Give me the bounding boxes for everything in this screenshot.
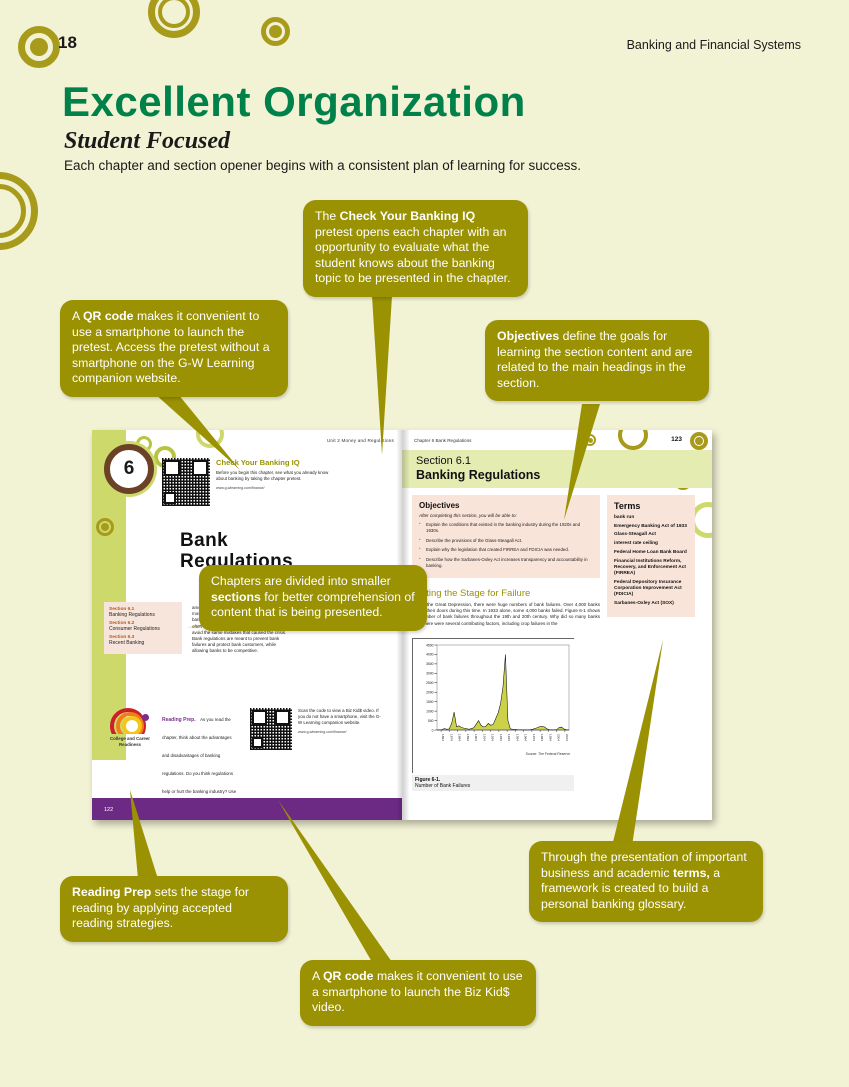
page-number: 18 bbox=[58, 33, 77, 53]
callout-objectives-bold: Objectives bbox=[497, 329, 559, 343]
callout-terms-bold: terms, bbox=[673, 866, 710, 880]
svg-text:1964: 1964 bbox=[524, 734, 528, 741]
callout-terms: Through the presentation of important bu… bbox=[529, 841, 763, 922]
svg-text:4500: 4500 bbox=[426, 643, 434, 647]
svg-text:1000: 1000 bbox=[426, 709, 434, 713]
objectives-title: Objectives bbox=[419, 501, 593, 510]
svg-text:0: 0 bbox=[432, 728, 434, 732]
term-item: Federal Home Loan Bank Board bbox=[614, 550, 688, 556]
objective-item: Explain why the legislation that created… bbox=[419, 547, 593, 553]
section-entry-name: Banking Regulations bbox=[109, 612, 177, 618]
left-page-footer-bar bbox=[92, 798, 402, 820]
right-page-running-head: Chapter 6 Bank Regulations bbox=[414, 438, 471, 443]
term-item: interest rate ceiling bbox=[614, 541, 688, 547]
right-page-folio: 123 bbox=[671, 436, 682, 443]
callout-sections-bold: sections bbox=[211, 590, 261, 604]
chart-source: Source: The Federal Reserve bbox=[526, 752, 570, 756]
callout-banking-iq-lead: The bbox=[315, 209, 340, 223]
section-entry-name: Consumer Regulations bbox=[109, 626, 177, 632]
chapter-number-badge: 6 bbox=[104, 444, 154, 494]
svg-text:2014: 2014 bbox=[565, 734, 569, 741]
running-head: Banking and Financial Systems bbox=[627, 38, 801, 52]
callout-banking-iq: The Check Your Banking IQ pretest opens … bbox=[303, 200, 528, 297]
unit-running-head: Unit 2 Money and Regulations bbox=[327, 438, 394, 443]
callout-banking-iq-rest: pretest opens each chapter with an oppor… bbox=[315, 225, 511, 286]
svg-text:2004: 2004 bbox=[557, 734, 561, 741]
callout-objectives: Objectives define the goals for learning… bbox=[485, 320, 709, 401]
callout-reading-prep: Reading Prep sets the stage for reading … bbox=[60, 876, 288, 942]
svg-text:1874: 1874 bbox=[449, 734, 453, 741]
section-name: Banking Regulations bbox=[416, 468, 540, 482]
svg-text:2500: 2500 bbox=[426, 681, 434, 685]
right-page: Chapter 6 Bank Regulations 123 Section 6… bbox=[402, 430, 712, 820]
objective-item: Describe the provisions of the Glass-Ste… bbox=[419, 538, 593, 544]
rp-deco-ring-b bbox=[618, 430, 648, 450]
deco-ring-1-core bbox=[30, 38, 48, 56]
term-item: Glass-Steagall Act bbox=[614, 532, 688, 538]
svg-text:1984: 1984 bbox=[540, 734, 544, 741]
callout-qr-pretest: A QR code makes it convenient to use a s… bbox=[60, 300, 288, 397]
section-entry-name: Recent Banking bbox=[109, 640, 177, 646]
svg-text:2000: 2000 bbox=[426, 691, 434, 695]
svg-text:500: 500 bbox=[428, 719, 434, 723]
terms-title: Terms bbox=[614, 501, 688, 511]
objectives-box: Objectives After completing this section… bbox=[412, 495, 600, 578]
objective-item: Explain the conditions that existed in t… bbox=[419, 522, 593, 534]
reading-prep-title: Reading Prep. bbox=[162, 717, 196, 723]
callout-sections-lead: Chapters are divided into smaller bbox=[211, 574, 391, 588]
svg-text:1974: 1974 bbox=[532, 734, 536, 741]
deco-ring-3-core bbox=[269, 25, 282, 38]
callout-qr-pretest-lead: A bbox=[72, 309, 83, 323]
callout-qr-bizkid-bold: QR code bbox=[323, 969, 374, 983]
section-entry[interactable]: Section 6.2 Consumer Regulations bbox=[109, 621, 177, 632]
svg-text:1864: 1864 bbox=[441, 734, 445, 741]
term-item: Financial Institutions Reform, Recovery,… bbox=[614, 559, 688, 578]
check-banking-iq-body: Before you begin this chapter, see what … bbox=[216, 470, 334, 482]
section-subtitle: Student Focused bbox=[64, 128, 230, 155]
svg-text:3500: 3500 bbox=[426, 662, 434, 666]
lp-deco-ring-c bbox=[196, 430, 224, 448]
callout-reading-prep-bold: Reading Prep bbox=[72, 885, 151, 899]
objective-item: Describe how the Sarbanes-Oxley Act incr… bbox=[419, 557, 593, 569]
figure-caption: Number of Bank Failures bbox=[415, 783, 571, 789]
svg-text:3000: 3000 bbox=[426, 672, 434, 676]
tail-qr-bizkid bbox=[278, 800, 392, 962]
svg-text:1994: 1994 bbox=[548, 734, 552, 741]
terms-box: Terms bank run Emergency Banking Act of … bbox=[607, 495, 695, 617]
check-banking-iq-url[interactable]: www.g-wlearning.com/finance/ bbox=[216, 486, 334, 490]
svg-text:1894: 1894 bbox=[466, 734, 470, 741]
svg-text:1924: 1924 bbox=[491, 734, 495, 741]
svg-text:4000: 4000 bbox=[426, 653, 434, 657]
pretest-qr-code[interactable] bbox=[162, 458, 210, 506]
svg-text:1954: 1954 bbox=[515, 734, 519, 741]
chapter-sections-list: Section 6.1 Banking Regulations Section … bbox=[104, 602, 182, 654]
svg-text:1500: 1500 bbox=[426, 700, 434, 704]
objectives-lead: After completing this section, you will … bbox=[419, 513, 593, 518]
svg-text:1934: 1934 bbox=[499, 734, 503, 741]
callout-qr-pretest-bold: QR code bbox=[83, 309, 134, 323]
chapter-title-line1: Bank bbox=[180, 530, 293, 551]
section-description: Each chapter and section opener begins w… bbox=[64, 158, 581, 173]
bizkid-body: Scan the code to view a Biz Kid$ video. … bbox=[298, 708, 384, 726]
lp-deco-dot bbox=[101, 523, 109, 531]
bizkid-qr-code[interactable] bbox=[250, 708, 292, 750]
term-item: Sarbanes-Oxley Act (SOX) bbox=[614, 601, 688, 607]
term-item: bank run bbox=[614, 515, 688, 521]
left-page-folio: 122 bbox=[104, 807, 113, 813]
callout-qr-bizkid: A QR code makes it convenient to use a s… bbox=[300, 960, 536, 1026]
section-entry[interactable]: Section 6.3 Recent Banking bbox=[109, 635, 177, 646]
svg-text:1944: 1944 bbox=[507, 734, 511, 741]
bank-failures-chart: 0500100015002000250030003500400045001864… bbox=[412, 638, 574, 773]
callout-banking-iq-bold: Check Your Banking IQ bbox=[340, 209, 476, 223]
callout-qr-bizkid-lead: A bbox=[312, 969, 323, 983]
term-item: Federal Depository Insurance Corporation… bbox=[614, 580, 688, 599]
college-career-readiness-label: College and Career Readiness bbox=[102, 736, 158, 747]
stage-body-text: During the Great Depression, there were … bbox=[412, 602, 600, 627]
svg-text:1884: 1884 bbox=[458, 734, 462, 741]
term-item: Emergency Banking Act of 1933 bbox=[614, 524, 688, 530]
bizkid-url[interactable]: www.g-wlearning.com/finance/ bbox=[298, 730, 384, 734]
figure-caption-block: Figure 6-1. Number of Bank Failures bbox=[412, 775, 574, 791]
rp-deco-dot-a bbox=[588, 438, 593, 443]
callout-sections: Chapters are divided into smaller sectio… bbox=[199, 565, 427, 631]
section-entry[interactable]: Section 6.1 Banking Regulations bbox=[109, 607, 177, 618]
check-banking-iq-title: Check Your Banking IQ bbox=[216, 458, 334, 467]
college-career-readiness-icon bbox=[110, 708, 150, 734]
stage-heading: Setting the Stage for Failure bbox=[412, 588, 530, 599]
section-number: Section 6.1 bbox=[416, 455, 471, 467]
rp-deco-dot-c bbox=[695, 437, 703, 445]
page-title: Excellent Organization bbox=[62, 78, 526, 126]
svg-text:1904: 1904 bbox=[474, 734, 478, 741]
svg-text:1914: 1914 bbox=[482, 734, 486, 741]
